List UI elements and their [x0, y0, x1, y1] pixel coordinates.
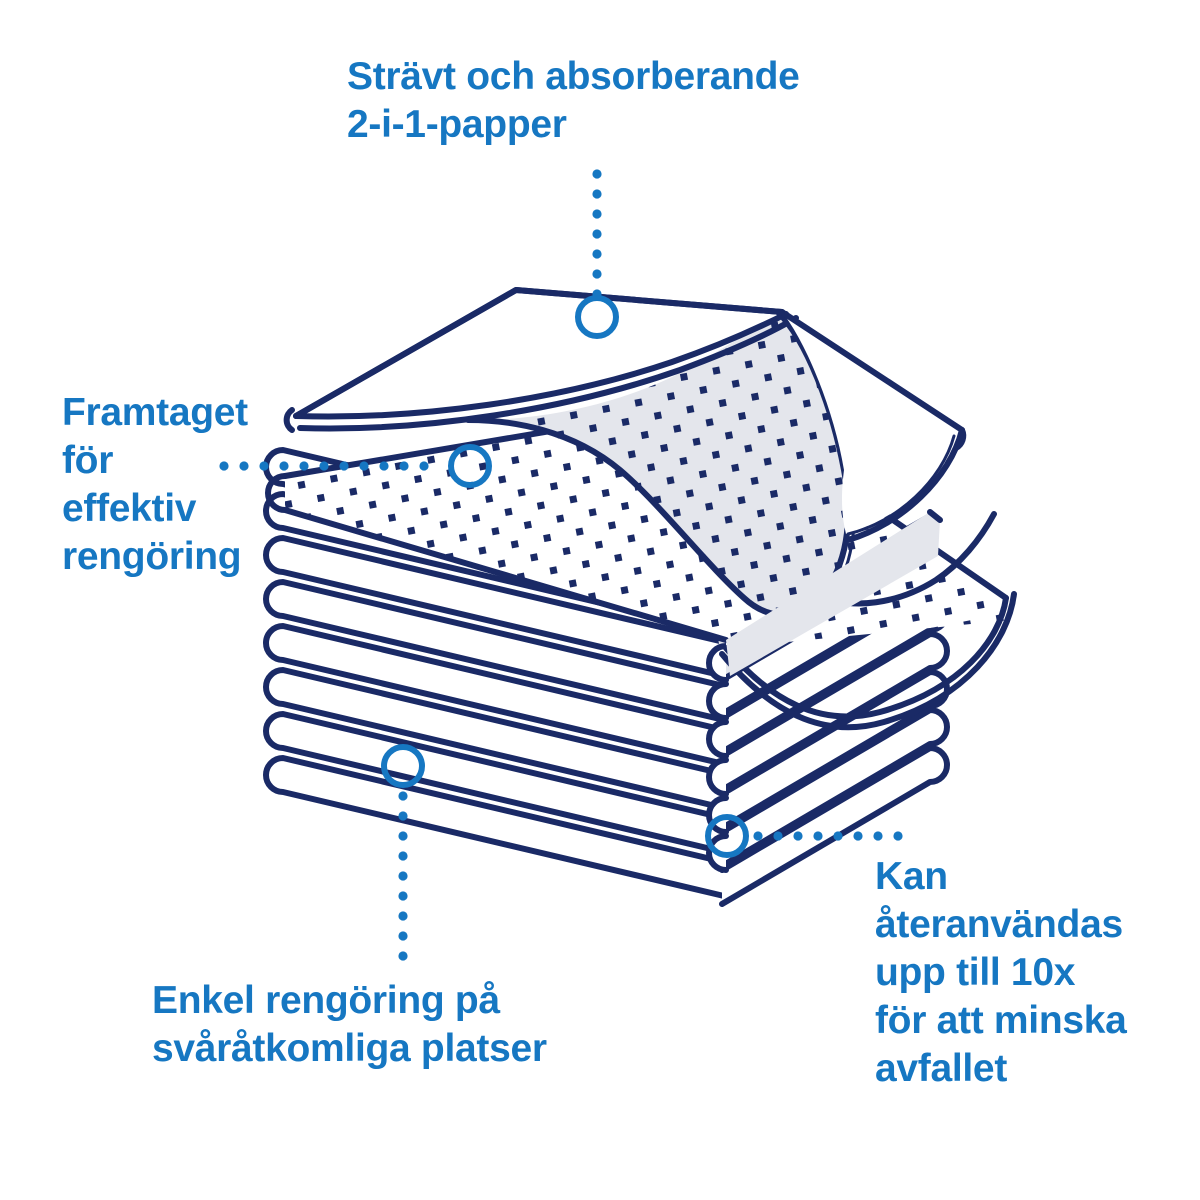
callout-label-hard-to-reach: Enkel rengöring på svåråtkomliga platser: [152, 977, 547, 1073]
callout-label-reusable: Kan återanvändas upp till 10x för att mi…: [875, 853, 1127, 1093]
folded-sheet-stack: [266, 290, 1014, 904]
leader-dots-bottom-left: [398, 791, 407, 960]
infographic-canvas: Strävt och absorberande 2-i-1-papper Fra…: [0, 0, 1200, 1200]
leader-dots-top: [592, 169, 601, 298]
callout-label-absorbent-paper: Strävt och absorberande 2-i-1-papper: [347, 53, 800, 149]
callout-label-effective-cleaning: Framtaget för effektiv rengöring: [62, 389, 248, 581]
